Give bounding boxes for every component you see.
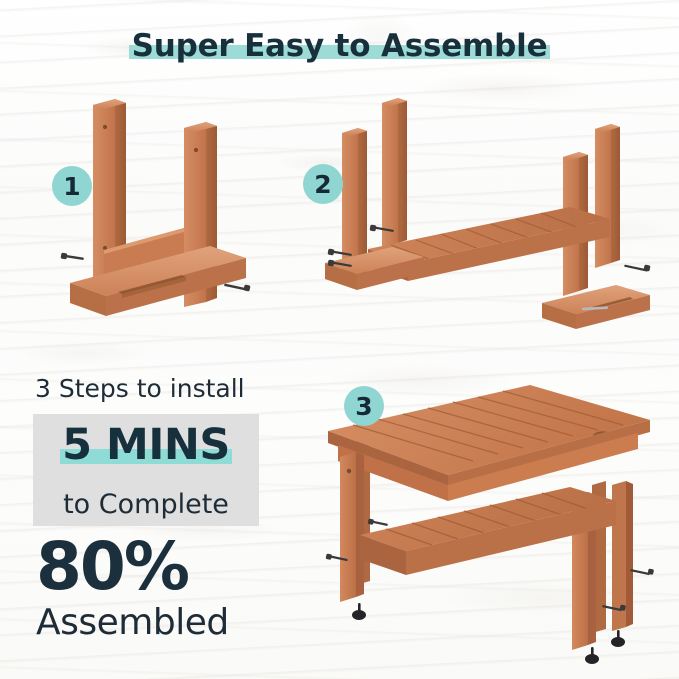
time-value: 5 MINS bbox=[62, 420, 230, 470]
leveling-foot-left bbox=[352, 603, 366, 620]
leveling-foot-mid bbox=[585, 647, 599, 664]
step-2-illustration bbox=[320, 95, 670, 335]
percent-value: 80% bbox=[36, 534, 188, 600]
time-panel: 5 MINS to Complete bbox=[33, 414, 259, 526]
screw-right bbox=[624, 264, 651, 271]
screw-right-upper bbox=[630, 568, 654, 575]
screw-left bbox=[61, 253, 84, 261]
step-badge-2: 2 bbox=[303, 164, 343, 204]
title-text: Super Easy to Assemble bbox=[132, 28, 548, 64]
screw-right bbox=[224, 284, 251, 292]
steps-to-install-label: 3 Steps to install bbox=[35, 374, 245, 403]
step-badge-1: 1 bbox=[52, 166, 92, 206]
screw-shelf-left bbox=[368, 518, 388, 526]
step-badge-3: 3 bbox=[344, 386, 384, 426]
infographic-canvas: Super Easy to Assemble bbox=[0, 0, 679, 679]
step-1-illustration bbox=[60, 80, 260, 330]
post-far-right bbox=[595, 124, 620, 268]
time-suffix-label: to Complete bbox=[33, 489, 259, 520]
post-back-left bbox=[382, 98, 407, 248]
time-value-row: 5 MINS bbox=[33, 420, 259, 470]
leg-front-left bbox=[340, 452, 364, 602]
percent-label: Assembled bbox=[36, 605, 229, 641]
page-title: Super Easy to Assemble bbox=[0, 28, 679, 64]
leveling-foot-right bbox=[611, 630, 625, 647]
